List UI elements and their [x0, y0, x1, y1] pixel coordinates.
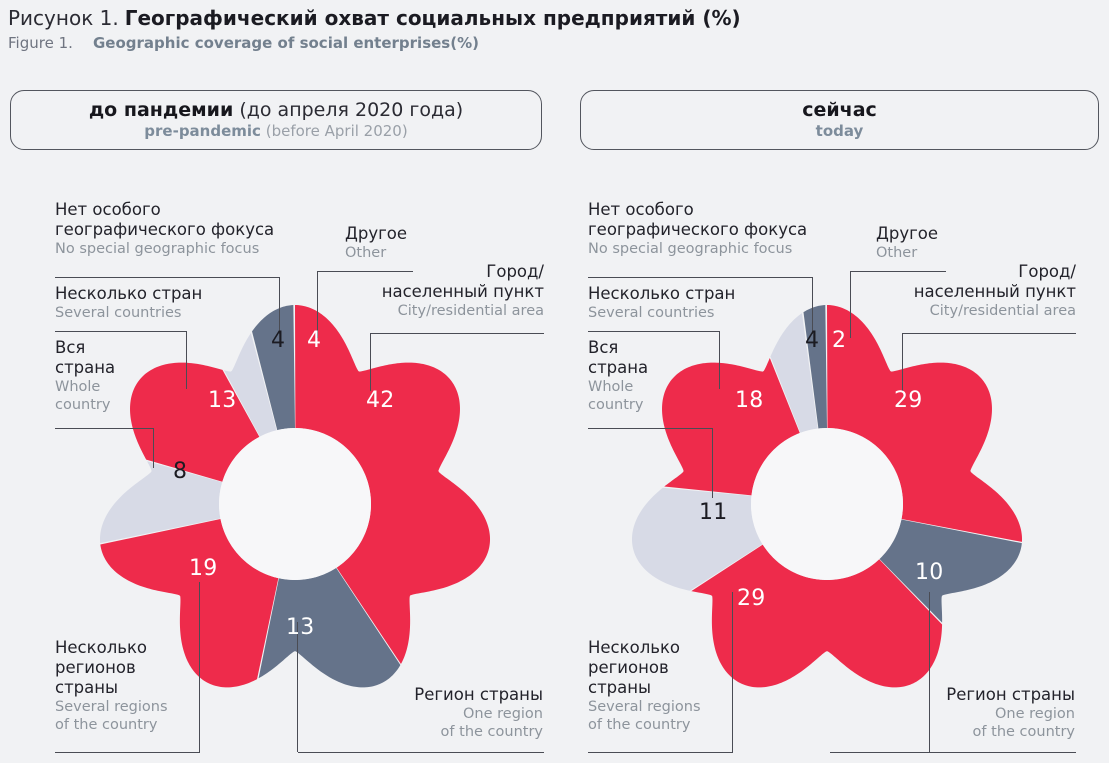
callout-several-countries-en-right: Several countries — [588, 304, 735, 322]
callout-city-ru-left: Город/ населенный пункт — [300, 262, 544, 302]
callout-city-ru-right: Город/ населенный пункт — [832, 262, 1076, 302]
callout-city-right: Город/ населенный пункт City/residential… — [832, 262, 1076, 320]
callout-whole-country-ru-left: Вся страна — [55, 338, 115, 378]
callout-no-focus-ru-right: Нет особого географического фокуса — [588, 200, 807, 240]
callout-several-regions-right: Несколько регионов страны Several region… — [588, 638, 701, 734]
panel-header-ru-right: сейчас — [802, 99, 877, 122]
callout-other-ru-left: Другое — [345, 224, 407, 244]
donut-center-hole — [219, 428, 371, 580]
pie-slice — [100, 461, 222, 543]
callout-no-focus-en-left: No special geographic focus — [55, 240, 274, 258]
callout-several-countries-right: Несколько стран Several countries — [588, 284, 735, 322]
pie-slice — [295, 305, 490, 664]
panel-header-ru-bold-left: до пандемии — [89, 99, 233, 121]
value-city-left: 42 — [366, 388, 395, 413]
callout-no-focus-en-right: No special geographic focus — [588, 240, 807, 258]
panel-header-ru-left: до пандемии (до апреля 2020 года) — [89, 99, 463, 122]
figure-title-block: Рисунок 1. Географический охват социальн… — [8, 6, 1098, 52]
callout-one-region-ru-left: Регион страны — [330, 685, 543, 705]
pie-slice — [259, 568, 401, 687]
leader-several-regions-v-right — [732, 592, 733, 752]
figure-title-text-ru: Географический охват социальных предприя… — [125, 6, 741, 30]
pie-slice — [691, 545, 942, 688]
panel-header-en-rest-left: (before April 2020) — [266, 122, 408, 140]
value-several-countries-left: 13 — [208, 388, 237, 413]
callout-other-en-left: Other — [345, 244, 407, 262]
pie-slice — [662, 358, 800, 495]
callout-city-en-left: City/residential area — [300, 302, 544, 320]
callout-whole-country-left: Вся страна Whole country — [55, 338, 115, 414]
callout-several-regions-en-right: Several regions of the country — [588, 698, 701, 734]
figure-number-ru: Рисунок 1. — [8, 6, 119, 30]
leader-whole-country-v-left — [153, 428, 154, 468]
callout-no-focus-ru-left: Нет особого географического фокуса — [55, 200, 274, 240]
callout-other-right: Другое Other — [876, 224, 938, 262]
callout-one-region-left: Регион страны One region of the country — [330, 685, 543, 741]
panel-header-en-bold-right: today — [816, 122, 864, 140]
pie-slice — [224, 333, 277, 437]
callout-whole-country-en-right: Whole country — [588, 378, 648, 414]
callout-other-ru-right: Другое — [876, 224, 938, 244]
callout-whole-country-ru-right: Вся страна — [588, 338, 648, 378]
panel-header-en-left: pre-pandemic (before April 2020) — [144, 122, 407, 141]
figure-number-en: Figure 1. — [8, 34, 93, 52]
value-no-focus-left: 4 — [271, 328, 285, 353]
leader-several-regions-v-left — [199, 582, 200, 752]
value-one-region-right: 10 — [915, 560, 944, 585]
callout-one-region-en-left: One region of the country — [330, 705, 543, 741]
callout-no-focus-left: Нет особого географического фокуса No sp… — [55, 200, 274, 258]
callout-several-countries-left: Несколько стран Several countries — [55, 284, 202, 322]
value-city-right: 29 — [894, 388, 923, 413]
pie-slice — [803, 305, 827, 428]
figure-title-en: Figure 1. Geographic coverage of social … — [8, 34, 1098, 52]
callout-no-focus-right: Нет особого географического фокуса No sp… — [588, 200, 807, 258]
figure-title-ru: Рисунок 1. Географический охват социальн… — [8, 6, 1098, 30]
infographic-root: Рисунок 1. Географический охват социальн… — [0, 0, 1109, 763]
pie-slice — [130, 363, 259, 482]
leader-no-focus-h-left — [55, 277, 280, 278]
value-other-left: 4 — [307, 328, 321, 353]
leader-one-region-h-right — [830, 752, 1076, 753]
callout-several-regions-ru-left: Несколько регионов страны — [55, 638, 168, 698]
callout-city-left: Город/ населенный пункт City/residential… — [300, 262, 544, 320]
leader-city-v-right — [902, 333, 903, 391]
panel-header-ru-bold-right: сейчас — [802, 99, 877, 121]
callout-one-region-en-right: One region of the country — [862, 705, 1075, 741]
leader-several-countries-h-left — [55, 331, 187, 332]
value-whole-country-right: 11 — [699, 500, 728, 525]
callout-several-countries-ru-left: Несколько стран — [55, 284, 202, 304]
leader-one-region-v-left — [297, 622, 298, 752]
leader-several-countries-h-right — [588, 331, 720, 332]
pie-slice — [252, 305, 295, 430]
leader-whole-country-v-right — [712, 428, 713, 498]
leader-no-focus-h-right — [588, 277, 813, 278]
callout-other-left: Другое Other — [345, 224, 407, 262]
leader-no-focus-v-left — [279, 277, 280, 334]
value-several-regions-left: 19 — [189, 556, 218, 581]
flower-chart-today — [632, 305, 1022, 687]
callout-several-countries-ru-right: Несколько стран — [588, 284, 735, 304]
pie-slice — [632, 488, 762, 591]
panel-header-en-right: today — [816, 122, 864, 141]
panel-header-en-bold-left: pre-pandemic — [144, 122, 261, 140]
callout-several-countries-en-left: Several countries — [55, 304, 202, 322]
value-other-right: 2 — [832, 328, 846, 353]
callout-city-en-right: City/residential area — [832, 302, 1076, 320]
leader-city-h-right — [902, 333, 1076, 334]
value-no-focus-right: 4 — [805, 328, 819, 353]
callout-whole-country-right: Вся страна Whole country — [588, 338, 648, 414]
value-several-regions-right: 29 — [737, 586, 766, 611]
callout-other-en-right: Other — [876, 244, 938, 262]
figure-title-text-en: Geographic coverage of social enterprise… — [93, 34, 479, 52]
leader-several-regions-h-right — [588, 752, 733, 753]
value-one-region-left: 13 — [286, 615, 315, 640]
callout-several-regions-en-left: Several regions of the country — [55, 698, 168, 734]
leader-no-focus-v-right — [812, 277, 813, 334]
value-whole-country-left: 8 — [173, 459, 187, 484]
pie-slice — [827, 305, 1022, 542]
leader-city-v-left — [370, 333, 371, 391]
value-several-countries-right: 18 — [735, 388, 764, 413]
pie-slice — [880, 520, 1022, 623]
leader-one-region-h-left — [298, 752, 544, 753]
leader-whole-country-h-left — [55, 428, 154, 429]
callout-whole-country-en-left: Whole country — [55, 378, 115, 414]
callout-several-regions-left: Несколько регионов страны Several region… — [55, 638, 168, 734]
leader-one-region-v-right — [929, 592, 930, 752]
leader-several-regions-h-left — [55, 752, 200, 753]
callout-one-region-ru-right: Регион страны — [862, 685, 1075, 705]
donut-center-hole — [751, 428, 903, 580]
panel-header-ru-rest-left: (до апреля 2020 года) — [239, 99, 463, 121]
panel-header-today: сейчас today — [580, 90, 1099, 150]
leader-city-h-left — [370, 333, 544, 334]
leader-whole-country-h-right — [588, 428, 713, 429]
leader-several-countries-v-right — [719, 331, 720, 389]
panel-header-pre-pandemic: до пандемии (до апреля 2020 года) pre-pa… — [10, 90, 542, 150]
callout-several-regions-ru-right: Несколько регионов страны — [588, 638, 701, 698]
callout-one-region-right: Регион страны One region of the country — [862, 685, 1075, 741]
leader-several-countries-v-left — [186, 331, 187, 389]
